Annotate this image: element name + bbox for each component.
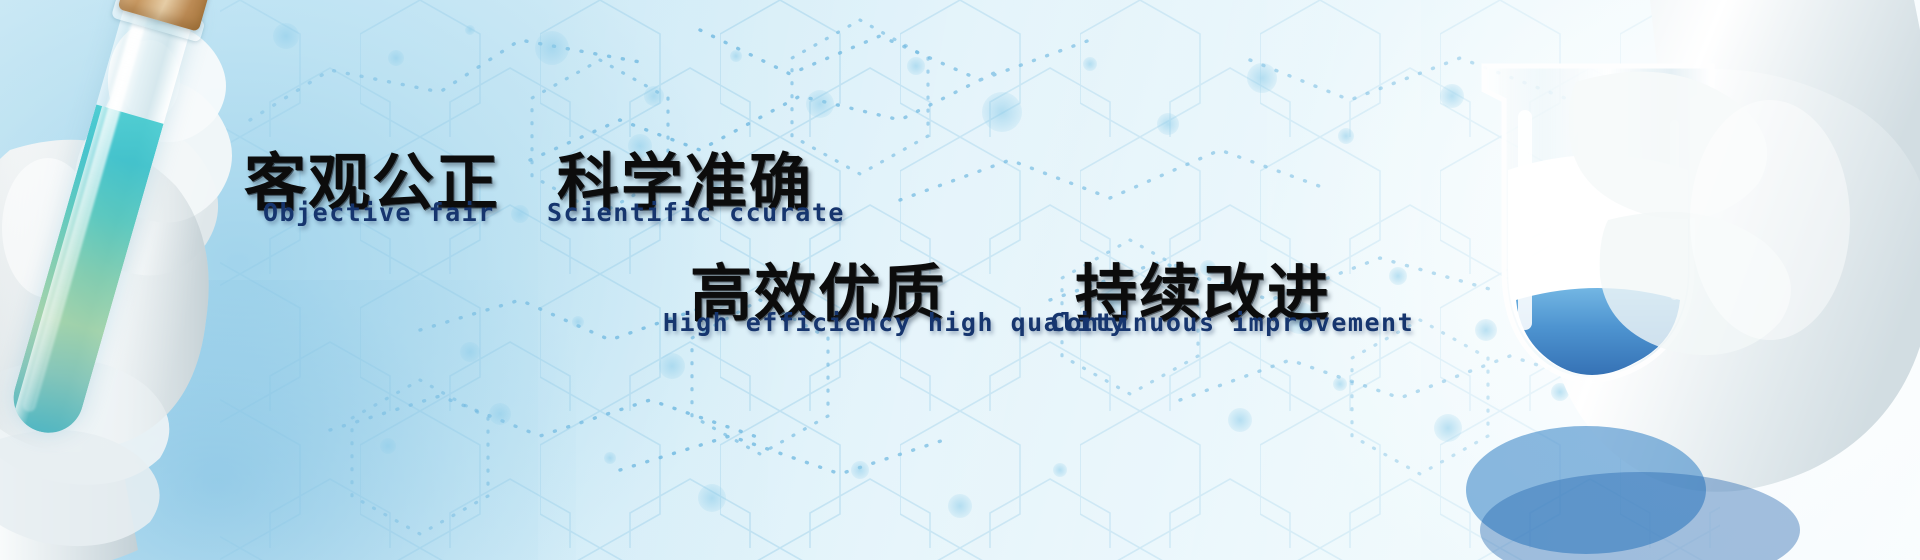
lab-slogan-banner: 客观公正 科学准确 Objective fair Scientific ccur… [0, 0, 1920, 560]
slogan-4-english: Continuous improvement [1050, 308, 1414, 337]
slogan-1-english: Objective fair [263, 198, 495, 227]
slogan-text-block: 客观公正 科学准确 Objective fair Scientific ccur… [0, 0, 1920, 560]
slogan-2-english: Scientific ccurate [547, 198, 845, 227]
